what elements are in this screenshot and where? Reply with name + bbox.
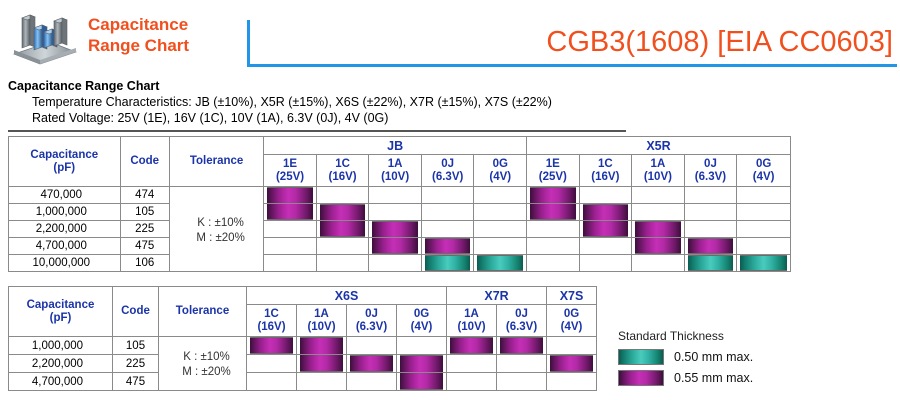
- th-voltage-0j-2: 0J(6.3V): [347, 305, 397, 337]
- cell-bar-1c-r2: [316, 221, 369, 238]
- cell-bar-0g-r1: [474, 204, 527, 221]
- voltage-value: (10V): [632, 171, 684, 184]
- cell-bar-1a-r0: [447, 337, 497, 355]
- th-code: Code: [113, 287, 159, 337]
- cell-code: 225: [120, 221, 169, 238]
- cell-bar-0g-r3: [474, 238, 527, 255]
- table-body: 470,000474K : ±10%M : ±20%1,000,0001052,…: [9, 187, 791, 272]
- cell-code: 105: [113, 337, 159, 355]
- cell-bar-0j-r1: [421, 204, 474, 221]
- cell-bar-0g-r0: [737, 187, 791, 204]
- cell-bar-1a-r4: [369, 255, 422, 272]
- tolerance-k: K : ±10%: [178, 216, 263, 231]
- th-voltage-1c-6: 1C(16V): [579, 155, 632, 187]
- rated-voltage-line: Rated Voltage: 25V (1E), 16V (1C), 10V (…: [8, 110, 892, 126]
- capacitance-range-bar: [300, 337, 343, 354]
- voltage-code: 1E: [264, 158, 316, 171]
- cell-bar-0g-r0: [547, 337, 597, 355]
- section-title: Capacitance Range Chart: [8, 78, 892, 94]
- th-voltage-0j-5: 0J(6.3V): [497, 305, 547, 337]
- th-capacitance-line1: Capacitance: [9, 149, 120, 162]
- cell-bar-1c-r1: [316, 204, 369, 221]
- bar-chart-3d-icon: [10, 8, 78, 66]
- cell-bar-0g-r4: [474, 255, 527, 272]
- th-voltage-0g-3: 0G(4V): [397, 305, 447, 337]
- cell-bar-0j-r1: [684, 204, 737, 221]
- cell-bar-1a-r1: [632, 204, 685, 221]
- voltage-code: 0G: [547, 308, 596, 321]
- table-row: 1,000,000105: [9, 204, 791, 221]
- cell-capacitance: 10,000,000: [9, 255, 121, 272]
- legend-item: 0.50 mm max.: [618, 347, 848, 366]
- cell-bar-1e-r0: [527, 187, 580, 204]
- voltage-value: (6.3V): [497, 321, 546, 334]
- cell-bar-1c-r2: [579, 221, 632, 238]
- capacitance-range-bar: [688, 238, 734, 254]
- page-header: Capacitance Range Chart CGB3(1608) [EIA …: [0, 0, 900, 72]
- th-voltage-1c-0: 1C(16V): [247, 305, 297, 337]
- cell-bar-1e-r4: [264, 255, 317, 272]
- th-voltage-1e-0: 1E(25V): [264, 155, 317, 187]
- th-capacitance-line2: (pF): [9, 162, 120, 175]
- voltage-code: 1E: [527, 158, 579, 171]
- cell-bar-1a-r2: [632, 221, 685, 238]
- th-capacitance: Capacitance (pF): [9, 287, 113, 337]
- capacitance-range-bar: [372, 221, 418, 237]
- th-voltage-1c-1: 1C(16V): [316, 155, 369, 187]
- cell-bar-0j-r0: [497, 337, 547, 355]
- cell-bar-0j-r0: [347, 337, 397, 355]
- capacitance-range-bar: [450, 337, 493, 354]
- cell-bar-1e-r1: [264, 204, 317, 221]
- capacitance-range-bar: [372, 238, 418, 254]
- cell-bar-1e-r3: [264, 238, 317, 255]
- voltage-value: (10V): [447, 321, 496, 334]
- th-capacitance: Capacitance (pF): [9, 137, 121, 187]
- cell-bar-0g-r4: [737, 255, 791, 272]
- capacitance-range-bar: [740, 255, 787, 271]
- voltage-value: (25V): [264, 171, 316, 184]
- th-group-x7s: X7S: [547, 287, 597, 305]
- legend: Standard Thickness 0.50 mm max. 0.55 mm …: [618, 328, 848, 387]
- capacitance-range-bar: [530, 187, 576, 203]
- cell-code: 105: [120, 204, 169, 221]
- capacitance-range-bar: [320, 221, 366, 237]
- th-capacitance-line2: (pF): [9, 312, 112, 325]
- table-header-group-row: Capacitance (pF) Code Tolerance JB X5R: [9, 137, 791, 155]
- voltage-code: 0G: [474, 158, 526, 171]
- cell-bar-1c-r0: [316, 187, 369, 204]
- cell-bar-1c-r3: [316, 238, 369, 255]
- capacitance-range-bar: [267, 204, 313, 220]
- th-group-x5r: X5R: [527, 137, 791, 155]
- th-voltage-1a-1: 1A(10V): [297, 305, 347, 337]
- header-title-line1: Capacitance: [88, 14, 238, 35]
- cell-bar-1a-r1: [369, 204, 422, 221]
- capacitance-range-table-2: Capacitance (pF) Code Tolerance X6S X7R …: [8, 286, 597, 391]
- capacitance-range-bar: [350, 355, 393, 372]
- voltage-value: (4V): [474, 171, 526, 184]
- cell-bar-1e-r2: [527, 221, 580, 238]
- cell-bar-0j-r0: [421, 187, 474, 204]
- cell-bar-1a-r4: [632, 255, 685, 272]
- cell-bar-0j-r0: [684, 187, 737, 204]
- voltage-code: 1C: [247, 308, 296, 321]
- table-row: 470,000474K : ±10%M : ±20%: [9, 187, 791, 204]
- cell-code: 474: [120, 187, 169, 204]
- cell-bar-0j-r3: [421, 238, 474, 255]
- capacitance-range-bar: [500, 337, 543, 354]
- th-voltage-1a-4: 1A(10V): [447, 305, 497, 337]
- cell-bar-1a-r2: [297, 373, 347, 391]
- cell-bar-1c-r0: [247, 337, 297, 355]
- voltage-code: 0G: [737, 158, 790, 171]
- cell-bar-1c-r4: [316, 255, 369, 272]
- cell-capacitance: 4,700,000: [9, 373, 113, 391]
- capacitance-range-bar: [300, 355, 343, 372]
- capacitance-range-bar: [477, 255, 523, 271]
- th-voltage-1e-5: 1E(25V): [527, 155, 580, 187]
- capacitance-range-bar: [267, 187, 313, 203]
- th-voltage-1a-7: 1A(10V): [632, 155, 685, 187]
- th-group-x6s: X6S: [247, 287, 447, 305]
- part-number-title: CGB3(1608) [EIA CC0603]: [247, 22, 895, 62]
- cell-bar-0g-r2: [547, 373, 597, 391]
- tolerance-m: M : ±20%: [178, 231, 263, 246]
- tolerance-m: M : ±20%: [167, 365, 246, 380]
- capacitance-range-bar: [635, 221, 681, 237]
- cell-bar-0j-r4: [421, 255, 474, 272]
- legend-item: 0.55 mm max.: [618, 368, 848, 387]
- cell-bar-1c-r3: [579, 238, 632, 255]
- chart-description: Capacitance Range Chart Temperature Char…: [8, 78, 892, 126]
- cell-bar-1a-r3: [632, 238, 685, 255]
- voltage-code: 0J: [347, 308, 396, 321]
- voltage-value: (10V): [297, 321, 346, 334]
- voltage-value: (16V): [247, 321, 296, 334]
- cell-bar-0g-r1: [547, 355, 597, 373]
- cell-capacitance: 4,700,000: [9, 238, 121, 255]
- table-row: 2,200,000225: [9, 355, 597, 373]
- cell-bar-0g-r3: [737, 238, 791, 255]
- capacitance-range-bar: [250, 337, 293, 354]
- voltage-value: (16V): [580, 171, 632, 184]
- capacitance-range-bar: [425, 255, 471, 271]
- voltage-code: 0G: [397, 308, 446, 321]
- th-capacitance-line1: Capacitance: [9, 299, 112, 312]
- capacitance-range-bar: [583, 221, 629, 237]
- capacitance-range-bar: [425, 238, 471, 254]
- cell-bar-0g-r0: [397, 337, 447, 355]
- th-voltage-0j-3: 0J(6.3V): [421, 155, 474, 187]
- cell-bar-1c-r2: [247, 373, 297, 391]
- voltage-value: (16V): [317, 171, 369, 184]
- cell-bar-0j-r4: [684, 255, 737, 272]
- voltage-code: 1C: [317, 158, 369, 171]
- capacitance-range-bar: [550, 355, 593, 372]
- voltage-value: (6.3V): [422, 171, 474, 184]
- voltage-code: 1A: [447, 308, 496, 321]
- cell-capacitance: 2,200,000: [9, 355, 113, 373]
- header-title-line2: Range Chart: [88, 35, 238, 56]
- table-row: 2,200,000225: [9, 221, 791, 238]
- cell-bar-0g-r2: [474, 221, 527, 238]
- th-voltage-0j-8: 0J(6.3V): [684, 155, 737, 187]
- cell-bar-1c-r0: [579, 187, 632, 204]
- cell-bar-1a-r2: [369, 221, 422, 238]
- cell-tolerance: K : ±10%M : ±20%: [169, 187, 263, 272]
- cell-bar-1a-r2: [447, 373, 497, 391]
- cell-code: 475: [113, 373, 159, 391]
- header-divider-horizontal: [247, 64, 897, 67]
- cell-bar-1a-r3: [369, 238, 422, 255]
- cell-bar-1c-r1: [247, 355, 297, 373]
- th-voltage-0g-6: 0G(4V): [547, 305, 597, 337]
- cell-bar-1a-r0: [632, 187, 685, 204]
- table-row: 1,000,000105K : ±10%M : ±20%: [9, 337, 597, 355]
- section-divider: [8, 130, 626, 132]
- cell-bar-1a-r0: [369, 187, 422, 204]
- voltage-code: 0J: [685, 158, 737, 171]
- cell-bar-0j-r3: [684, 238, 737, 255]
- cell-bar-1e-r3: [527, 238, 580, 255]
- th-voltage-0g-9: 0G(4V): [737, 155, 791, 187]
- cell-capacitance: 1,000,000: [9, 204, 121, 221]
- cell-bar-0g-r1: [397, 355, 447, 373]
- cell-capacitance: 470,000: [9, 187, 121, 204]
- cell-bar-0j-r1: [347, 355, 397, 373]
- capacitance-range-bar: [688, 255, 734, 271]
- th-tolerance: Tolerance: [169, 137, 263, 187]
- cell-bar-1a-r1: [447, 355, 497, 373]
- cell-bar-0j-r2: [684, 221, 737, 238]
- th-voltage-1a-2: 1A(10V): [369, 155, 422, 187]
- cell-bar-1e-r4: [527, 255, 580, 272]
- cell-bar-0j-r2: [497, 373, 547, 391]
- capacitance-range-bar: [635, 238, 681, 254]
- legend-swatch-teal: [618, 349, 664, 365]
- voltage-value: (6.3V): [347, 321, 396, 334]
- cell-code: 475: [120, 238, 169, 255]
- voltage-code: 1A: [297, 308, 346, 321]
- cell-bar-0j-r2: [421, 221, 474, 238]
- table-header-group-row: Capacitance (pF) Code Tolerance X6S X7R …: [9, 287, 597, 305]
- voltage-value: (4V): [547, 321, 596, 334]
- cell-bar-0g-r1: [737, 204, 791, 221]
- voltage-value: (25V): [527, 171, 579, 184]
- voltage-code: 0J: [497, 308, 546, 321]
- cell-code: 225: [113, 355, 159, 373]
- cell-bar-0g-r2: [397, 373, 447, 391]
- cell-bar-1e-r0: [264, 187, 317, 204]
- capacitance-range-bar: [320, 204, 366, 220]
- legend-title: Standard Thickness: [618, 328, 848, 344]
- cell-bar-1c-r4: [579, 255, 632, 272]
- cell-bar-1a-r0: [297, 337, 347, 355]
- th-tolerance: Tolerance: [159, 287, 247, 337]
- table-row: 10,000,000106: [9, 255, 791, 272]
- th-voltage-0g-4: 0G(4V): [474, 155, 527, 187]
- cell-bar-0g-r0: [474, 187, 527, 204]
- capacitance-range-bar: [400, 373, 443, 390]
- cell-bar-0j-r2: [347, 373, 397, 391]
- cell-bar-1e-r1: [527, 204, 580, 221]
- capacitance-range-bar: [400, 355, 443, 372]
- voltage-code: 0J: [422, 158, 474, 171]
- voltage-value: (4V): [737, 171, 790, 184]
- legend-label-magenta: 0.55 mm max.: [674, 371, 753, 385]
- legend-label-teal: 0.50 mm max.: [674, 350, 753, 364]
- temperature-characteristics-line: Temperature Characteristics: JB (±10%), …: [8, 94, 892, 110]
- cell-bar-0j-r1: [497, 355, 547, 373]
- legend-swatch-magenta: [618, 370, 664, 386]
- capacitance-range-bar: [583, 204, 629, 220]
- tolerance-k: K : ±10%: [167, 350, 246, 365]
- th-code: Code: [120, 137, 169, 187]
- header-title: Capacitance Range Chart: [88, 14, 238, 56]
- th-group-jb: JB: [264, 137, 527, 155]
- cell-code: 106: [120, 255, 169, 272]
- table-body: 1,000,000105K : ±10%M : ±20%2,200,000225…: [9, 337, 597, 391]
- voltage-value: (4V): [397, 321, 446, 334]
- cell-bar-1c-r1: [579, 204, 632, 221]
- cell-bar-1e-r2: [264, 221, 317, 238]
- voltage-code: 1A: [369, 158, 421, 171]
- cell-capacitance: 1,000,000: [9, 337, 113, 355]
- cell-bar-1a-r1: [297, 355, 347, 373]
- table-row: 4,700,000475: [9, 238, 791, 255]
- voltage-code: 1C: [580, 158, 632, 171]
- voltage-value: (10V): [369, 171, 421, 184]
- voltage-value: (6.3V): [685, 171, 737, 184]
- capacitance-range-bar: [530, 204, 576, 220]
- capacitance-range-table-1: Capacitance (pF) Code Tolerance JB X5R 1…: [8, 136, 791, 272]
- cell-bar-0g-r2: [737, 221, 791, 238]
- cell-capacitance: 2,200,000: [9, 221, 121, 238]
- voltage-code: 1A: [632, 158, 684, 171]
- th-group-x7r: X7R: [447, 287, 547, 305]
- cell-tolerance: K : ±10%M : ±20%: [159, 337, 247, 391]
- table-row: 4,700,000475: [9, 373, 597, 391]
